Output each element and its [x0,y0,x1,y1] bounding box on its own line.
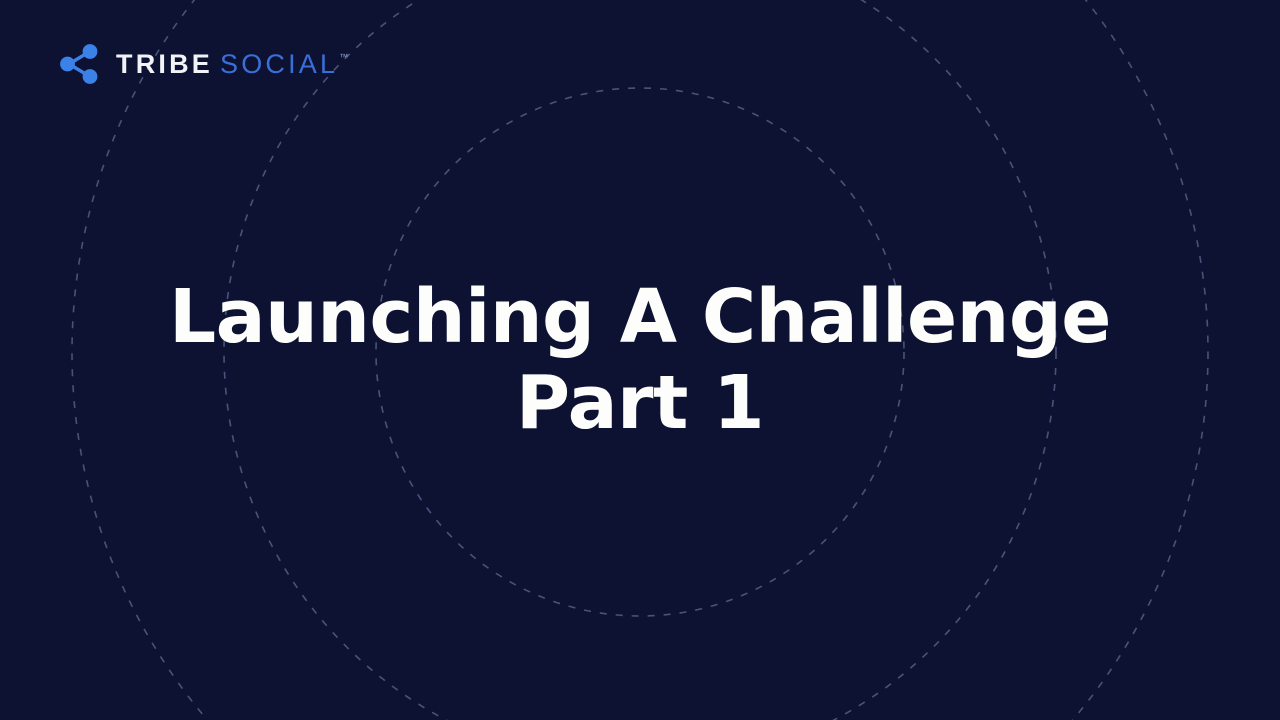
slide-title-block: Launching A Challenge Part 1 [0,0,1280,720]
slide-title-line-2: Part 1 [516,360,764,446]
slide-title-line-1: Launching A Challenge [169,274,1111,360]
presentation-slide: TRIBE SOCIAL ™ Launching A Challenge Par… [0,0,1280,720]
